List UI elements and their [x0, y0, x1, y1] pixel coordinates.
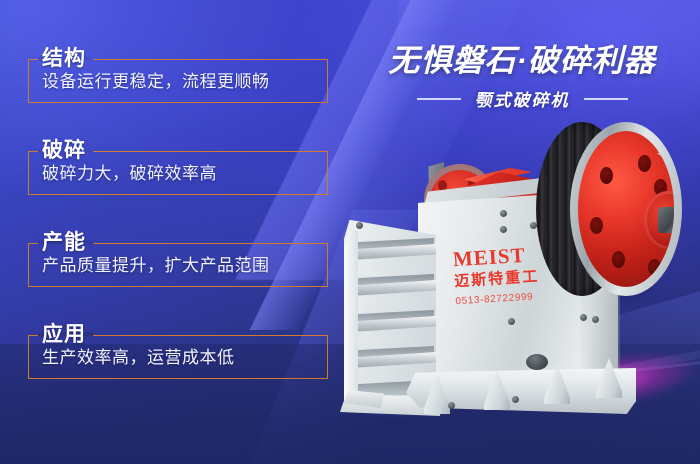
- dash-left-decoration: [417, 98, 461, 100]
- headline-block: 无惧磐石·破碎利器 颚式破碎机: [352, 42, 692, 111]
- feature-card-title-wrap: 破碎: [38, 138, 93, 164]
- product-banner: 无惧磐石·破碎利器 颚式破碎机: [0, 0, 700, 464]
- feature-card-title: 破碎: [38, 140, 93, 162]
- feature-card-desc: 生产效率高，运营成本低: [42, 346, 235, 370]
- feature-card-title-wrap: 产能: [38, 230, 93, 256]
- flywheel-shaft: [658, 207, 674, 233]
- headline-title: 无惧磐石·破碎利器: [352, 42, 692, 80]
- feature-card-desc: 产品质量提升，扩大产品范围: [42, 254, 270, 278]
- feature-card-desc: 设备运行更稳定，流程更顺畅: [42, 70, 270, 94]
- feature-card-title-wrap: 应用: [38, 322, 93, 348]
- feature-card: 产能 产品质量提升，扩大产品范围: [28, 230, 328, 287]
- discharge-port: [526, 354, 548, 370]
- rib-panel-front-edge: [344, 226, 358, 406]
- feature-card-title: 产能: [38, 232, 93, 254]
- feature-card: 破碎 破碎力大，破碎效率高: [28, 138, 328, 195]
- jaw-crusher-illustration: MEIST 迈斯特重工 0513-82722999: [330, 106, 700, 464]
- feature-card-title-wrap: 结构: [38, 46, 93, 72]
- feature-card: 应用 生产效率高，运营成本低: [28, 322, 328, 379]
- feature-card: 结构 设备运行更稳定，流程更顺畅: [28, 46, 328, 103]
- headline-subtitle-row: 颚式破碎机: [352, 86, 692, 111]
- headline-subtitle: 颚式破碎机: [475, 86, 570, 111]
- dash-right-decoration: [584, 98, 628, 100]
- feature-card-desc: 破碎力大，破碎效率高: [42, 162, 217, 186]
- feature-card-title: 应用: [38, 324, 93, 346]
- feature-card-title: 结构: [38, 48, 93, 70]
- machine-branding: MEIST 迈斯特重工 0513-82722999: [452, 240, 595, 309]
- feature-card-list: 结构 设备运行更稳定，流程更顺畅 破碎 破碎力大，破碎效率高 产能 产品质量提升…: [0, 0, 340, 464]
